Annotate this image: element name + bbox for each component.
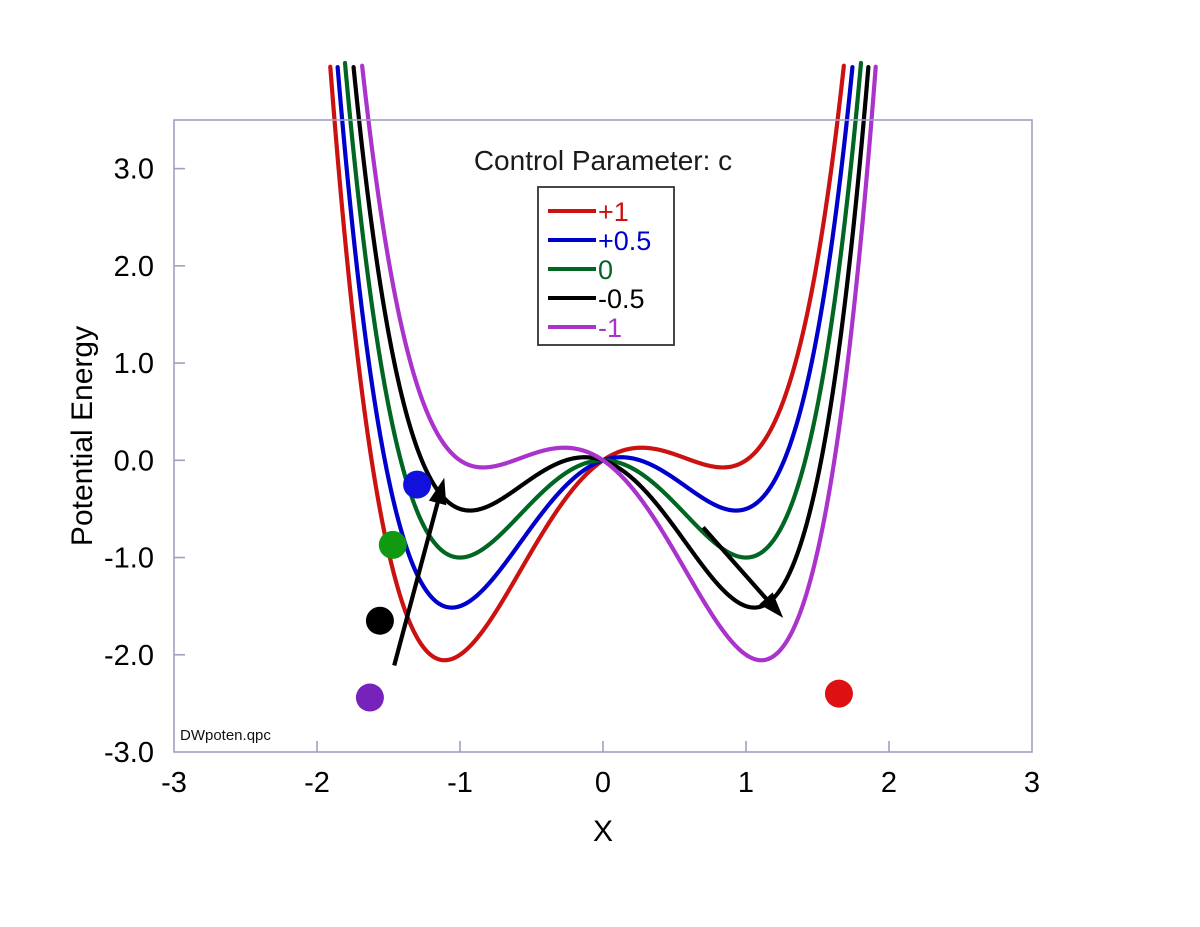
- watermark-label: DWpoten.qpc: [180, 727, 271, 744]
- red-ball-marker: [825, 680, 853, 708]
- legend-label-+0.5[interactable]: +0.5: [598, 226, 651, 256]
- x-tick-label-6: 3: [1024, 767, 1040, 799]
- potential-energy-plot: -3-2-101233.02.01.00.0-1.0-2.0-3.0 +1+0.…: [0, 0, 1200, 927]
- y-tick-label-1: 2.0: [114, 251, 154, 283]
- x-tick-label-3: 0: [595, 767, 611, 799]
- green-ball-marker: [379, 531, 407, 559]
- chart-title: Control Parameter: c: [474, 145, 732, 176]
- y-tick-label-4: -1.0: [104, 543, 154, 575]
- x-tick-label-4: 1: [738, 767, 754, 799]
- x-tick-label-0: -3: [161, 767, 187, 799]
- purple-ball-marker: [356, 684, 384, 712]
- down-arrow-shaft: [703, 527, 768, 601]
- y-tick-label-6: -3.0: [104, 737, 154, 769]
- y-tick-label-3: 0.0: [114, 445, 154, 477]
- legend-label--1[interactable]: -1: [598, 313, 622, 343]
- black-ball-marker: [366, 607, 394, 635]
- x-tick-label-5: 2: [881, 767, 897, 799]
- chart-root: -3-2-101233.02.01.00.0-1.0-2.0-3.0 +1+0.…: [0, 0, 1200, 927]
- legend-label--0.5[interactable]: -0.5: [598, 284, 645, 314]
- x-axis-title: X: [593, 815, 613, 848]
- x-tick-label-1: -2: [304, 767, 330, 799]
- legend-label-0[interactable]: 0: [598, 255, 613, 285]
- legend-layer[interactable]: +1+0.50-0.5-1: [538, 187, 674, 345]
- blue-ball-marker: [403, 471, 431, 499]
- x-tick-label-2: -1: [447, 767, 473, 799]
- y-axis-title: Potential Energy: [66, 326, 99, 546]
- y-tick-label-2: 1.0: [114, 348, 154, 380]
- y-tick-label-5: -2.0: [104, 640, 154, 672]
- y-tick-label-0: 3.0: [114, 154, 154, 186]
- legend-label-+1[interactable]: +1: [598, 197, 629, 227]
